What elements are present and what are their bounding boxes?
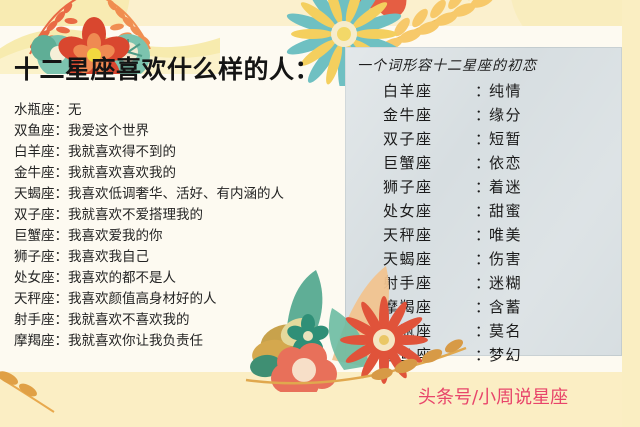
list-item: 处女座：我喜欢的都不是人 <box>14 268 334 289</box>
first-love-word: 纯情 <box>489 79 522 103</box>
separator: ： <box>55 186 69 202</box>
zodiac-sign-label: 狮子座 <box>383 175 475 199</box>
poster-canvas: 十二星座喜欢什么样的人： 水瓶座：无 双鱼座：我爱这个世界 白羊座：我就喜欢得不… <box>0 0 640 427</box>
zodiac-description: 我爱这个世界 <box>68 123 149 139</box>
zodiac-description: 我喜欢我自己 <box>68 249 149 265</box>
first-love-word: 含蓄 <box>489 295 522 319</box>
separator: ： <box>475 319 489 343</box>
zodiac-sign-label: 天蝎座 <box>14 186 55 202</box>
zodiac-sign-label: 双子座 <box>14 207 55 223</box>
list-item: 天秤座：我喜欢颜值高身材好的人 <box>14 289 334 310</box>
zodiac-preference-list: 水瓶座：无 双鱼座：我爱这个世界 白羊座：我就喜欢得不到的 金牛座：我就喜欢喜欢… <box>14 100 334 352</box>
zodiac-sign-label: 白羊座 <box>14 144 55 160</box>
zodiac-description: 我喜欢的都不是人 <box>68 270 176 286</box>
separator: ： <box>475 127 489 151</box>
separator: ： <box>55 207 69 223</box>
first-love-word: 迷糊 <box>489 271 522 295</box>
table-row: 水瓶座：莫名 <box>383 319 603 343</box>
first-love-word: 伤害 <box>489 247 522 271</box>
separator: ： <box>55 165 69 181</box>
first-love-word: 缘分 <box>489 103 522 127</box>
list-item: 金牛座：我就喜欢喜欢我的 <box>14 163 334 184</box>
note-card-title: 一个词形容十二星座的初恋 <box>357 55 537 75</box>
zodiac-sign-label: 处女座 <box>383 199 475 223</box>
zodiac-sign-label: 处女座 <box>14 270 55 286</box>
table-row: 双鱼座：梦幻 <box>383 343 603 367</box>
zodiac-sign-label: 水瓶座 <box>14 102 55 118</box>
separator: ： <box>475 295 489 319</box>
zodiac-description: 我喜欢爱我的你 <box>68 228 163 244</box>
list-item: 白羊座：我就喜欢得不到的 <box>14 142 334 163</box>
zodiac-sign-label: 射手座 <box>14 312 55 328</box>
watermark-credit: 头条号/小周说星座 <box>418 383 568 409</box>
page-title: 十二星座喜欢什么样的人： <box>14 50 320 86</box>
separator: ： <box>55 249 69 265</box>
zodiac-sign-label: 天秤座 <box>14 291 55 307</box>
zodiac-sign-label: 巨蟹座 <box>14 228 55 244</box>
first-love-word: 梦幻 <box>489 343 522 367</box>
list-item: 双鱼座：我爱这个世界 <box>14 121 334 142</box>
zodiac-sign-label: 摩羯座 <box>14 333 55 349</box>
zodiac-sign-label: 金牛座 <box>14 165 55 181</box>
table-row: 白羊座：纯情 <box>383 79 603 103</box>
separator: ： <box>475 175 489 199</box>
separator: ： <box>475 79 489 103</box>
separator: ： <box>55 144 69 160</box>
separator: ： <box>475 271 489 295</box>
list-item: 双子座：我就喜欢不爱搭理我的 <box>14 205 334 226</box>
list-item: 巨蟹座：我喜欢爱我的你 <box>14 226 334 247</box>
list-item: 水瓶座：无 <box>14 100 334 121</box>
list-item: 天蝎座：我喜欢低调奢华、活好、有内涵的人 <box>14 184 334 205</box>
zodiac-description: 无 <box>68 102 82 118</box>
separator: ： <box>475 151 489 175</box>
first-love-word: 依恋 <box>489 151 522 175</box>
table-row: 射手座：迷糊 <box>383 271 603 295</box>
table-row: 狮子座：着迷 <box>383 175 603 199</box>
first-love-word: 唯美 <box>489 223 522 247</box>
separator: ： <box>55 102 69 118</box>
separator: ： <box>55 333 69 349</box>
zodiac-sign-label: 水瓶座 <box>383 319 475 343</box>
first-love-word: 短暂 <box>489 127 522 151</box>
separator: ： <box>475 247 489 271</box>
first-love-word-list: 白羊座：纯情 金牛座：缘分 双子座：短暂 巨蟹座：依恋 狮子座：着迷 处女座：甜… <box>383 79 603 367</box>
zodiac-sign-label: 天秤座 <box>383 223 475 247</box>
table-row: 天蝎座：伤害 <box>383 247 603 271</box>
separator: ： <box>55 228 69 244</box>
table-row: 处女座：甜蜜 <box>383 199 603 223</box>
zodiac-sign-label: 金牛座 <box>383 103 475 127</box>
table-row: 巨蟹座：依恋 <box>383 151 603 175</box>
zodiac-sign-label: 双鱼座 <box>383 343 475 367</box>
separator: ： <box>475 343 489 367</box>
zodiac-sign-label: 狮子座 <box>14 249 55 265</box>
zodiac-sign-label: 双鱼座 <box>14 123 55 139</box>
background-right-band <box>622 0 640 427</box>
note-card: 一个词形容十二星座的初恋 白羊座：纯情 金牛座：缘分 双子座：短暂 巨蟹座：依恋… <box>345 47 622 356</box>
zodiac-sign-label: 射手座 <box>383 271 475 295</box>
separator: ： <box>55 270 69 286</box>
separator: ： <box>475 103 489 127</box>
first-love-word: 莫名 <box>489 319 522 343</box>
zodiac-description: 我就喜欢得不到的 <box>68 144 176 160</box>
table-row: 金牛座：缘分 <box>383 103 603 127</box>
separator: ： <box>55 312 69 328</box>
separator: ： <box>475 199 489 223</box>
first-love-word: 着迷 <box>489 175 522 199</box>
table-row: 双子座：短暂 <box>383 127 603 151</box>
separator: ： <box>55 123 69 139</box>
list-item: 狮子座：我喜欢我自己 <box>14 247 334 268</box>
zodiac-description: 我就喜欢喜欢我的 <box>68 165 176 181</box>
zodiac-description: 我就喜欢你让我负责任 <box>68 333 203 349</box>
table-row: 天秤座：唯美 <box>383 223 603 247</box>
zodiac-sign-label: 天蝎座 <box>383 247 475 271</box>
list-item: 摩羯座：我就喜欢你让我负责任 <box>14 331 334 352</box>
zodiac-description: 我就喜欢不爱搭理我的 <box>68 207 203 223</box>
zodiac-description: 我就喜欢不喜欢我的 <box>68 312 190 328</box>
zodiac-description: 我喜欢颜值高身材好的人 <box>68 291 217 307</box>
zodiac-description: 我喜欢低调奢华、活好、有内涵的人 <box>68 186 284 202</box>
zodiac-sign-label: 白羊座 <box>383 79 475 103</box>
table-row: 摩羯座：含蓄 <box>383 295 603 319</box>
separator: ： <box>55 291 69 307</box>
separator: ： <box>475 223 489 247</box>
zodiac-sign-label: 双子座 <box>383 127 475 151</box>
zodiac-sign-label: 摩羯座 <box>383 295 475 319</box>
zodiac-sign-label: 巨蟹座 <box>383 151 475 175</box>
first-love-word: 甜蜜 <box>489 199 522 223</box>
list-item: 射手座：我就喜欢不喜欢我的 <box>14 310 334 331</box>
